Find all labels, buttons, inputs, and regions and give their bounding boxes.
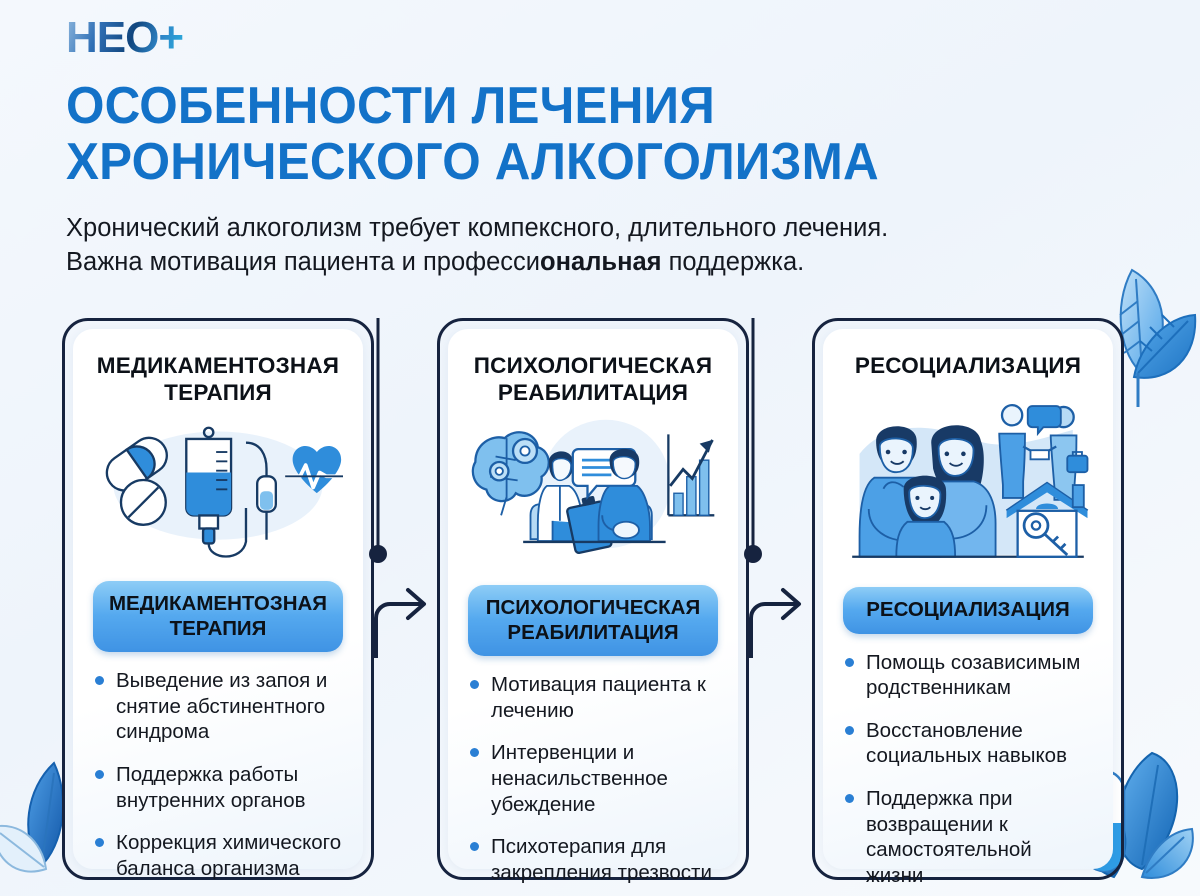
stage-heading-line1: МЕДИКАМЕНТОЗНАЯ bbox=[97, 353, 339, 378]
stage-heading-line2: ТЕРАПИЯ bbox=[164, 380, 272, 405]
subtitle-line2-bold: ональная bbox=[540, 248, 662, 276]
subtitle-line2-post: поддержка. bbox=[662, 248, 805, 276]
medication-illustration bbox=[93, 413, 343, 575]
list-item: Мотивация пациента к лечению bbox=[468, 672, 718, 723]
resocialization-illustration bbox=[843, 391, 1093, 581]
arrow-right-icon bbox=[376, 590, 424, 658]
connector-dot-line bbox=[369, 318, 387, 563]
stage-card-psychological: ПСИХОЛОГИЧЕСКАЯ РЕАБИЛИТАЦИЯ bbox=[437, 318, 749, 880]
list-item: Интервенции и ненасильственное убеждение bbox=[468, 740, 718, 817]
list-item: Поддержка при возвращении к самостоятель… bbox=[843, 786, 1093, 889]
stage-bullet-list: Выведение из запоя и снятие абстинентног… bbox=[93, 668, 343, 896]
list-item: Восстановление социальных навыков bbox=[843, 718, 1093, 769]
stage-card-heading: ПСИХОЛОГИЧЕСКАЯ РЕАБИЛИТАЦИЯ bbox=[468, 353, 718, 411]
connector-card2-to-card3 bbox=[743, 318, 813, 663]
stage-pill-line2: РЕАБИЛИТАЦИЯ bbox=[507, 621, 678, 644]
brand-logo: НЕО+ bbox=[66, 16, 183, 60]
stage-card-resocialization: РЕСОЦИАЛИЗАЦИЯ bbox=[812, 318, 1124, 880]
stage-pill-line1: ПСИХОЛОГИЧЕСКАЯ bbox=[486, 596, 700, 619]
psychology-illustration bbox=[468, 413, 718, 579]
stage-heading-line2: РЕАБИЛИТАЦИЯ bbox=[498, 380, 688, 405]
stage-bullet-list: Мотивация пациента к лечению Интервенции… bbox=[468, 672, 718, 896]
list-item: Коррекция химического баланса организма bbox=[93, 830, 343, 881]
tablet-icon bbox=[121, 480, 166, 525]
growth-chart-icon bbox=[668, 434, 714, 515]
subtitle-line2-pre: Важна мотивация пациента и професси bbox=[66, 248, 540, 276]
stage-card-heading: РЕСОЦИАЛИЗАЦИЯ bbox=[843, 353, 1093, 385]
brain-gears-icon bbox=[473, 432, 549, 515]
stage-card-heading: МЕДИКАМЕНТОЗНАЯ ТЕРАПИЯ bbox=[93, 353, 343, 411]
stage-heading-line1: РЕСОЦИАЛИЗАЦИЯ bbox=[855, 353, 1081, 378]
stage-pill-label[interactable]: ПСИХОЛОГИЧЕСКАЯ РЕАБИЛИТАЦИЯ bbox=[468, 585, 718, 656]
stage-pill-line1: РЕСОЦИАЛИЗАЦИЯ bbox=[866, 598, 1070, 621]
stage-pill-line2: ТЕРАПИЯ bbox=[170, 617, 267, 640]
subtitle-line1: Хронический алкоголизм требует компексно… bbox=[66, 214, 888, 242]
list-item: Выведение из запоя и снятие абстинентног… bbox=[93, 668, 343, 745]
stage-card-medication: МЕДИКАМЕНТОЗНАЯ ТЕРАПИЯ bbox=[62, 318, 374, 880]
page-title: ОСОБЕННОСТИ ЛЕЧЕНИЯ ХРОНИЧЕСКОГО АЛКОГОЛ… bbox=[66, 78, 1092, 190]
page-title-line2: ХРОНИЧЕСКОГО АЛКОГОЛИЗМА bbox=[66, 133, 879, 191]
list-item: Психотерапия для закрепления трезвости bbox=[468, 834, 718, 885]
stage-heading-line1: ПСИХОЛОГИЧЕСКАЯ bbox=[474, 353, 712, 378]
page-title-line1: ОСОБЕННОСТИ ЛЕЧЕНИЯ bbox=[66, 77, 715, 135]
stage-pill-label[interactable]: РЕСОЦИАЛИЗАЦИЯ bbox=[843, 587, 1093, 634]
treatment-stages-container: МЕДИКАМЕНТОЗНАЯ ТЕРАПИЯ bbox=[0, 318, 1200, 888]
list-item: Помощь созависимым родственникам bbox=[843, 650, 1093, 701]
page-subtitle: Хронический алкоголизм требует компексно… bbox=[66, 212, 1076, 280]
arrow-right-icon bbox=[751, 590, 799, 658]
connector-card1-to-card2 bbox=[368, 318, 438, 663]
connector-dot-line bbox=[744, 318, 762, 563]
stage-pill-label[interactable]: МЕДИКАМЕНТОЗНАЯ ТЕРАПИЯ bbox=[93, 581, 343, 652]
stage-bullet-list: Помощь созависимым родственникам Восстан… bbox=[843, 650, 1093, 896]
list-item: Поддержка работы внутренних органов bbox=[93, 762, 343, 813]
stage-pill-line1: МЕДИКАМЕНТОЗНАЯ bbox=[109, 592, 327, 615]
